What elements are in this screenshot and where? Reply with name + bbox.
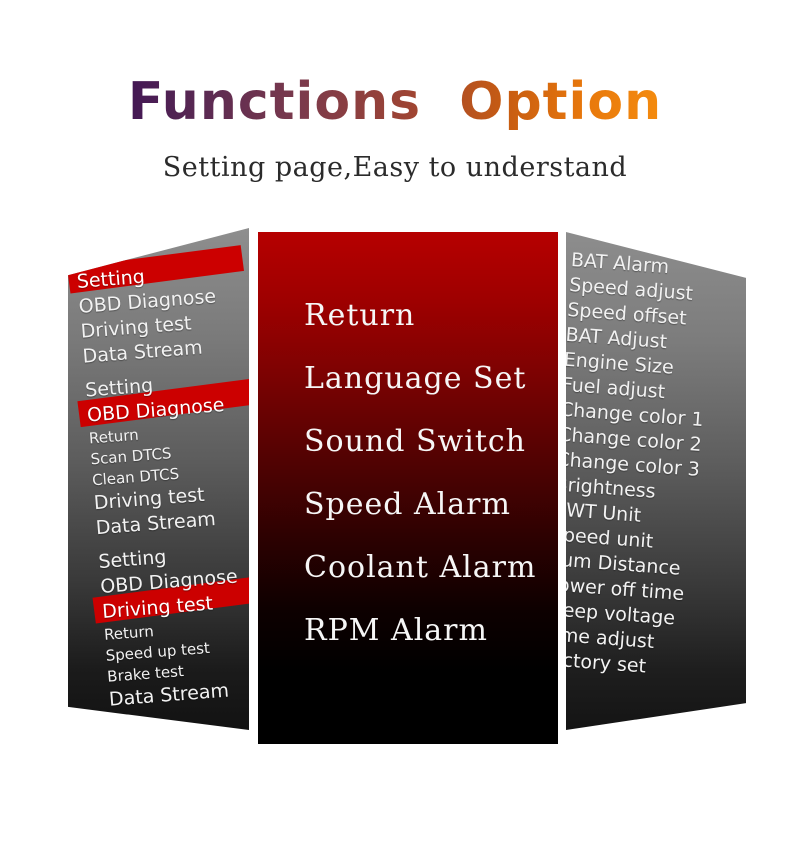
setting-item-return[interactable]: Return	[304, 284, 564, 347]
menu-item-label: Setting	[98, 546, 168, 573]
advanced-item-label: Speed unit	[550, 523, 654, 552]
advanced-settings-list: BAT AlarmSpeed adjustSpeed offsetBAT Adj…	[541, 248, 772, 687]
menu-item-label: Return	[103, 622, 154, 644]
setting-menu-panel: ReturnLanguage SetSound SwitchSpeed Alar…	[258, 232, 558, 744]
setting-item-language-set[interactable]: Language Set	[304, 347, 564, 410]
setting-item-speed-alarm[interactable]: Speed Alarm	[304, 473, 564, 536]
menu-item-label: Return	[88, 426, 139, 448]
menu-tree-panel: SettingOBD DiagnoseDriving testData Stre…	[68, 228, 249, 730]
setting-item-coolant-alarm[interactable]: Coolant Alarm	[304, 536, 564, 599]
advanced-settings-panel: BAT AlarmSpeed adjustSpeed offsetBAT Adj…	[566, 232, 746, 730]
setting-menu-list: ReturnLanguage SetSound SwitchSpeed Alar…	[304, 284, 564, 662]
advanced-item-label: CWT Unit	[552, 498, 642, 526]
setting-item-sound-switch[interactable]: Sound Switch	[304, 410, 564, 473]
menu-item-label: Setting	[76, 266, 146, 293]
setting-item-rpm-alarm[interactable]: RPM Alarm	[304, 599, 564, 662]
panels-container: SettingOBD DiagnoseDriving testData Stre…	[0, 0, 790, 858]
